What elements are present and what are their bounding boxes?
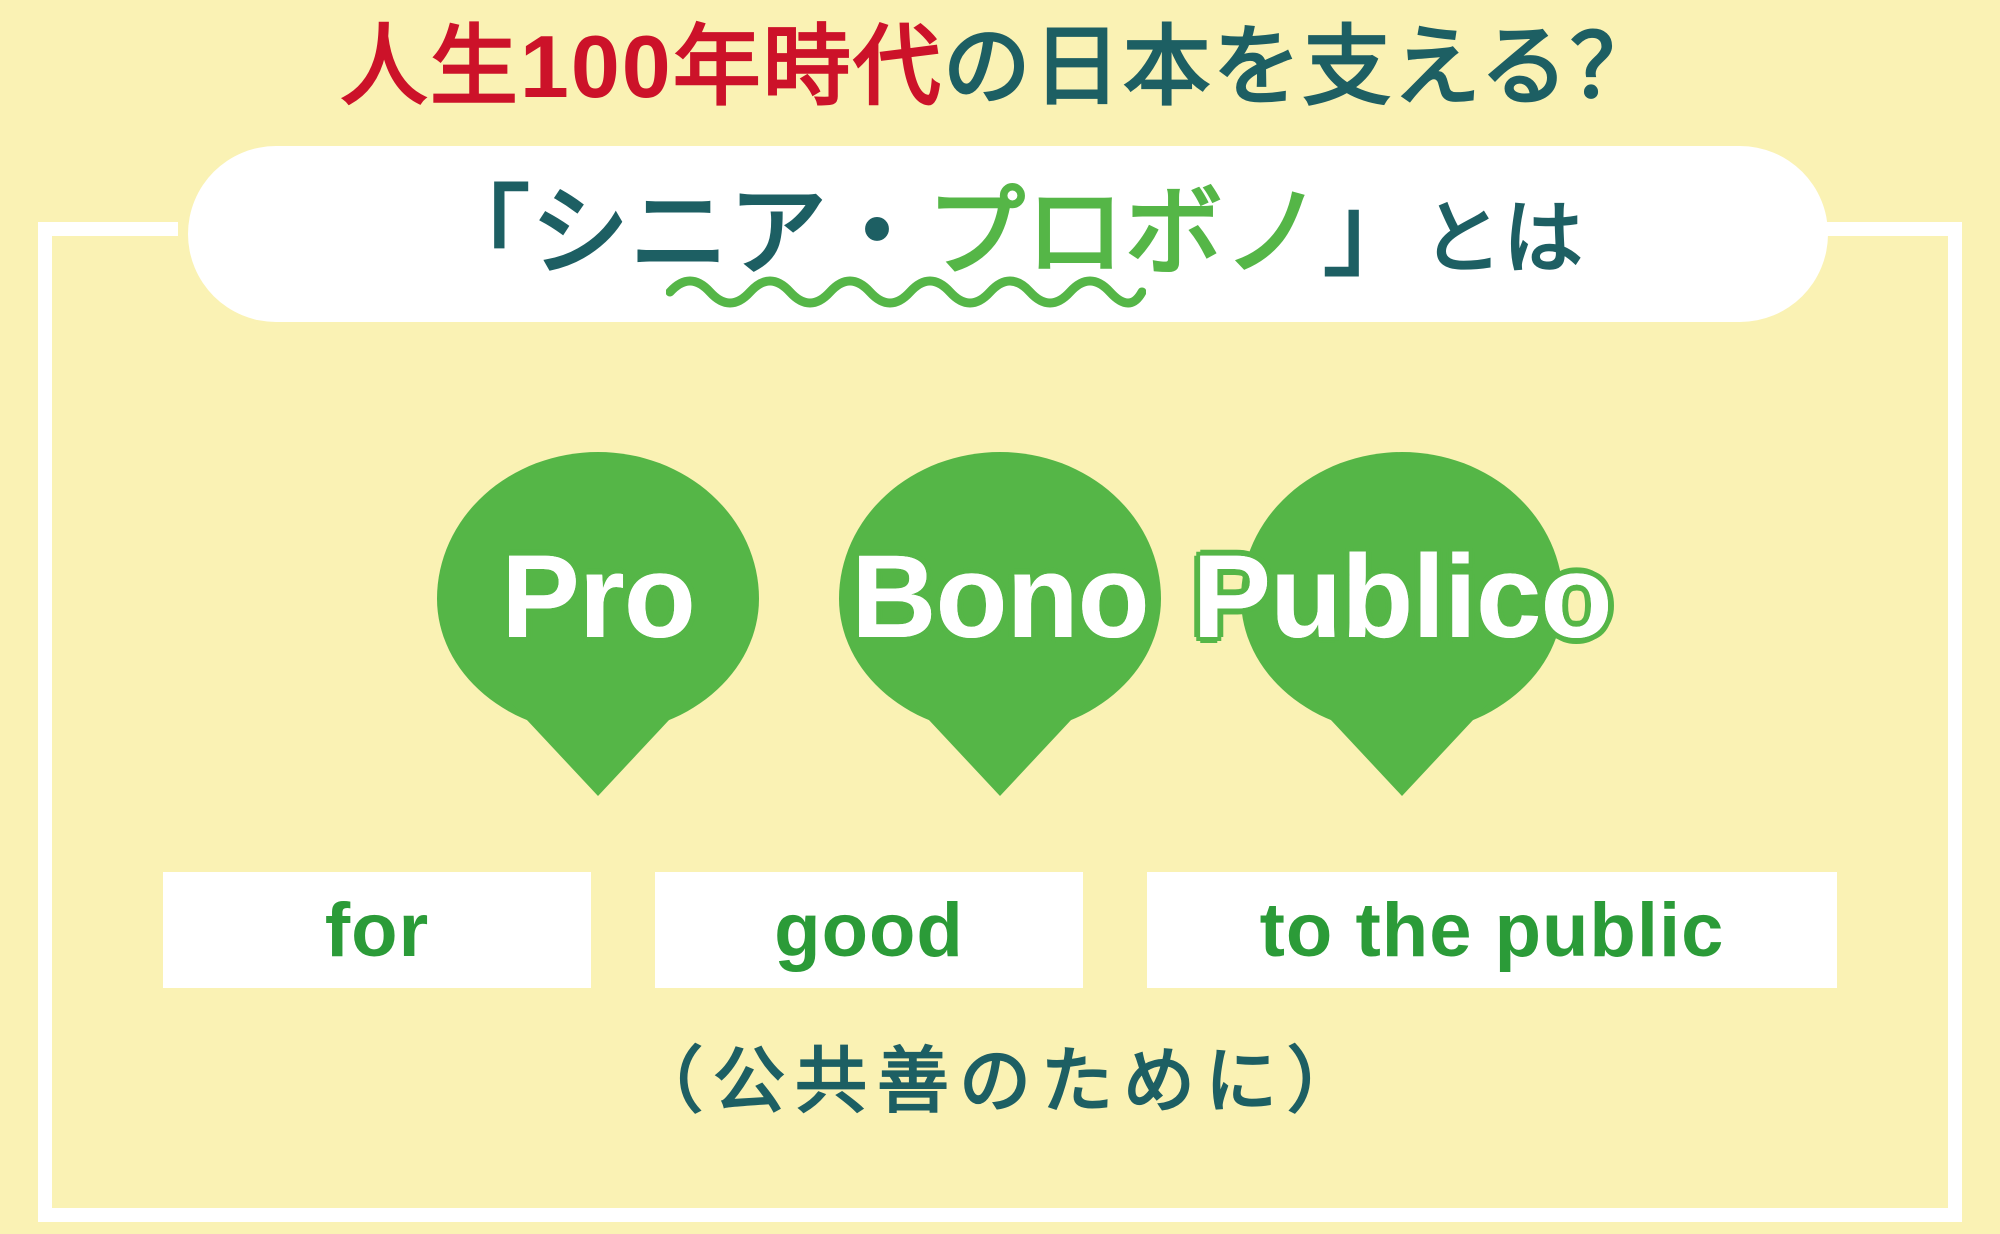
pin-label-pro: Pro bbox=[501, 538, 695, 656]
banner-open-bracket: 「 bbox=[432, 177, 531, 287]
page-headline: 人生100年時代の日本を支える？ bbox=[0, 18, 2000, 117]
poster-canvas: 人生100年時代の日本を支える？ 「シニア・プロボノ」とは Pro Bono P… bbox=[0, 0, 2000, 1234]
headline-teal-part: の日本を支える？ bbox=[943, 17, 1660, 116]
pin-item-publico: Publico bbox=[1241, 452, 1563, 734]
frame-top-left-segment bbox=[38, 222, 178, 236]
banner-teal-word: シニア・ bbox=[531, 177, 927, 287]
banner-suffix: とは bbox=[1422, 194, 1584, 283]
caption-group: for good to the public bbox=[0, 872, 2000, 988]
pin-item-bono: Bono bbox=[839, 452, 1161, 734]
banner-text: 「シニア・プロボノ」とは bbox=[432, 183, 1584, 285]
pin-label-bono: Bono bbox=[851, 538, 1148, 656]
pin-label-publico: Publico bbox=[1192, 538, 1611, 656]
banner-green-word: プロボノ bbox=[927, 177, 1323, 287]
caption-box-good: good bbox=[655, 872, 1083, 988]
pin-group: Pro Bono Publico bbox=[0, 452, 2000, 734]
banner-close-bracket: 」 bbox=[1323, 177, 1422, 287]
caption-box-to-the-public: to the public bbox=[1147, 872, 1837, 988]
japanese-subcaption: （公共善のために） bbox=[0, 1022, 2000, 1127]
headline-red-part: 人生100年時代 bbox=[340, 17, 943, 116]
title-banner: 「シニア・プロボノ」とは bbox=[188, 146, 1828, 322]
caption-box-for: for bbox=[163, 872, 591, 988]
pin-item-pro: Pro bbox=[437, 452, 759, 734]
